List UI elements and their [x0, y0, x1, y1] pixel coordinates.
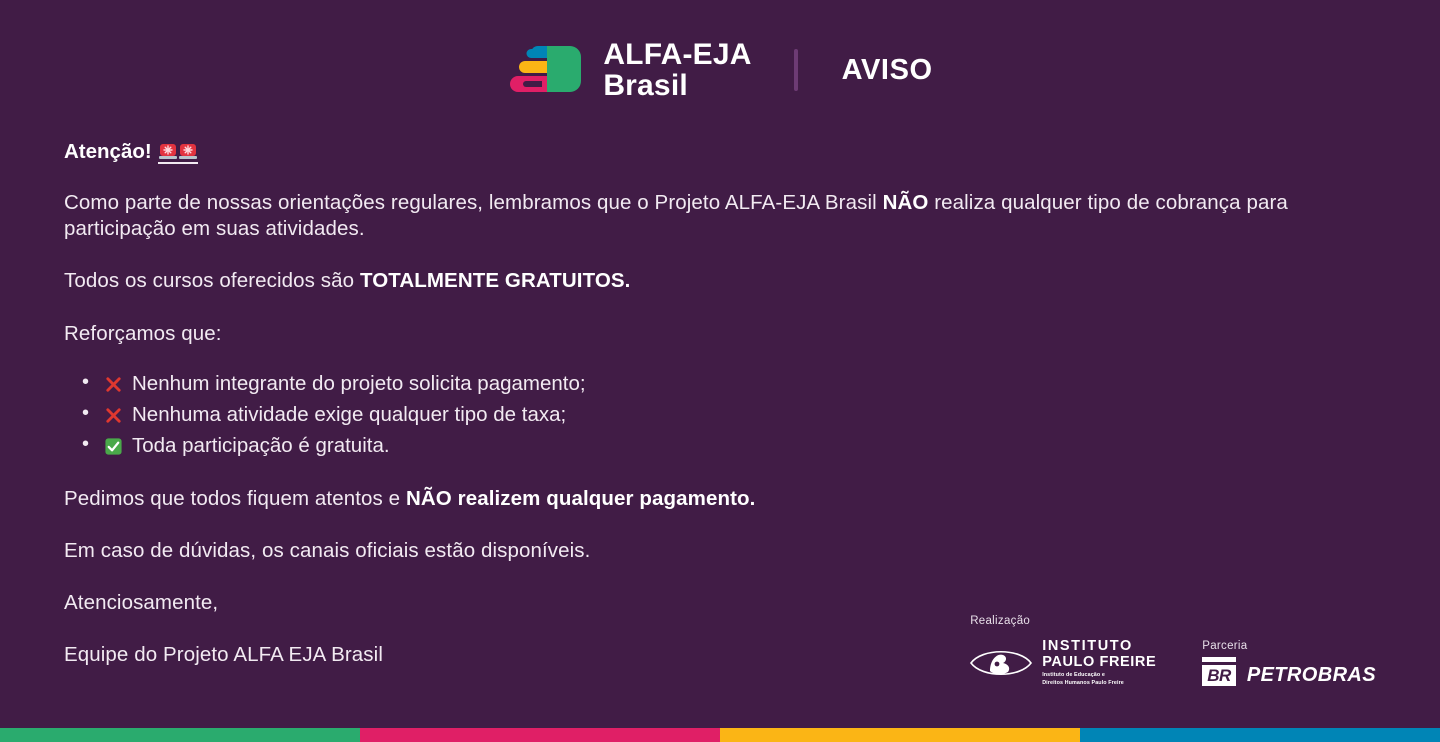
police-car-light-emoji-icon: [178, 141, 198, 161]
paragraph-no-charging: Como parte de nossas orientações regular…: [64, 190, 1314, 242]
list-item-label: Nenhuma atividade exige qualquer tipo de…: [132, 402, 566, 428]
list-item: Nenhuma atividade exige qualquer tipo de…: [82, 402, 1376, 428]
lead-line: Atenção!: [64, 140, 1376, 164]
brand-lockup: ALFA-EJA Brasil: [507, 39, 751, 102]
brand-name: ALFA-EJA Brasil: [603, 39, 751, 102]
reinforcement-list: Nenhum integrante do projeto solicita pa…: [64, 371, 1376, 460]
list-item-label: Nenhum integrante do projeto solicita pa…: [132, 371, 586, 397]
police-car-light-emoji-icon: [158, 141, 178, 161]
partnership-block: Parceria BR PETROBRAS: [1202, 640, 1376, 687]
notice-body: Atenção!: [0, 140, 1440, 669]
list-item-label: Toda participação é gratuita.: [132, 433, 390, 459]
list-item: Nenhum integrante do projeto solicita pa…: [82, 371, 1376, 397]
paragraph-free-courses: Todos os cursos oferecidos são TOTALMENT…: [64, 268, 1314, 294]
paragraph-4-bold: NÃO realizem qualquer pagamento.: [406, 487, 756, 510]
instituto-paulo-freire-eye-logo-icon: [970, 646, 1032, 680]
paragraph-reinforce: Reforçamos que:: [64, 321, 1314, 347]
paragraph-4-part1: Pedimos que todos fiquem atentos e: [64, 487, 406, 510]
cross-mark-emoji-icon: [104, 406, 123, 425]
instituto-paulo-freire-logo: INSTITUTO PAULO FREIRE Instituto de Educ…: [970, 639, 1156, 687]
bottom-color-bar: [0, 728, 1440, 742]
ipf-subtitle: Instituto de Educação e Direitos Humanos…: [1042, 672, 1156, 687]
bottom-bar-segment-yellow: [720, 728, 1080, 742]
bottom-bar-segment-pink: [360, 728, 720, 742]
petrobras-wordmark: PETROBRAS: [1247, 664, 1376, 687]
paragraph-1-part1: Como parte de nossas orientações regular…: [64, 191, 883, 214]
cross-mark-emoji-icon: [104, 375, 123, 394]
header-divider: [794, 49, 798, 91]
instituto-paulo-freire-wordmark: INSTITUTO PAULO FREIRE Instituto de Educ…: [1042, 639, 1156, 687]
check-mark-button-emoji-icon: [104, 437, 123, 456]
petrobras-logo: BR PETROBRAS: [1202, 664, 1376, 687]
paragraph-official-channels: Em caso de dúvidas, os canais oficiais e…: [64, 538, 1314, 564]
bottom-bar-segment-green: [0, 728, 360, 742]
lead-text: Atenção!: [64, 140, 152, 164]
partnership-caption: Parceria: [1202, 640, 1376, 652]
footer-logos: Realização INSTITUTO PAULO FREIRE Instit…: [970, 615, 1376, 687]
alfa-eja-book-logo-icon: [507, 39, 585, 101]
ipf-name-line1: INSTITUTO: [1042, 639, 1156, 654]
lead-emoji-group: [158, 141, 198, 164]
realization-caption: Realização: [970, 615, 1156, 627]
realization-block: Realização INSTITUTO PAULO FREIRE Instit…: [970, 615, 1156, 687]
header-kicker: AVISO: [842, 54, 933, 87]
paragraph-signoff: Atenciosamente,: [64, 590, 1314, 616]
paragraph-1-bold: NÃO: [883, 191, 929, 214]
list-item: Toda participação é gratuita.: [82, 433, 1376, 459]
paragraph-2-part1: Todos os cursos oferecidos são: [64, 269, 360, 292]
petrobras-br-mark: BR: [1202, 665, 1236, 686]
bottom-bar-segment-blue: [1080, 728, 1440, 742]
paragraph-do-not-pay: Pedimos que todos fiquem atentos e NÃO r…: [64, 486, 1314, 512]
page-header: ALFA-EJA Brasil AVISO: [0, 0, 1440, 140]
ipf-name-line2: PAULO FREIRE: [1042, 655, 1156, 670]
paragraph-2-bold: TOTALMENTE GRATUITOS.: [360, 269, 631, 292]
